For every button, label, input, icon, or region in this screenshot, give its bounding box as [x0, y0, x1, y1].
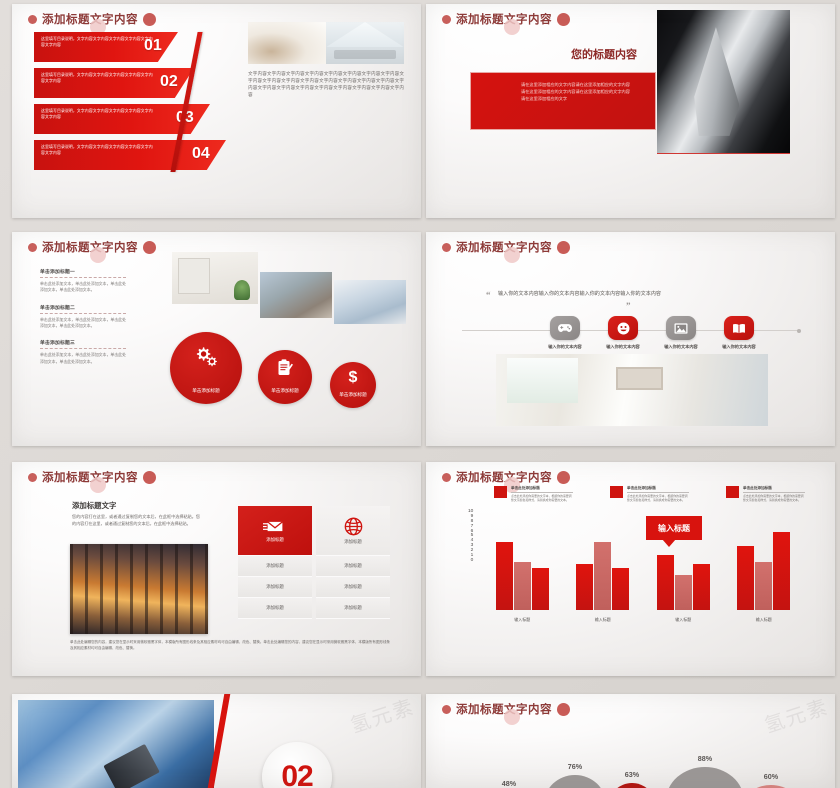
slide-thumbnail-5[interactable]: 添加标题文字内容 添加标题文字 您的内容打在这里，或者通过复制您的文本后，在此框…	[12, 462, 421, 676]
footer-note: 单击此处编辑您的内容，建议您在显示时采用微软雅黑字体，本模版所有图形线条及其相应…	[70, 640, 390, 652]
x-tick-label: 输入标题	[490, 617, 554, 623]
section-number: 02	[281, 760, 312, 788]
globe-icon	[344, 517, 363, 536]
bullet-dot-icon	[28, 473, 37, 482]
accent-circle-icon	[557, 13, 570, 26]
bar	[737, 546, 754, 610]
clipboard-check-icon	[258, 359, 312, 377]
bullet-dot-icon	[442, 243, 451, 252]
list-item[interactable]: 这里填写目录说明，文字内容文字内容文字内容文字内容文字内容文字内容 01	[34, 32, 234, 62]
svg-text:$: $	[349, 369, 358, 384]
feature-circle[interactable]: 单击添加标题	[170, 332, 242, 404]
picture-icon	[666, 316, 696, 340]
quote-text: 输入你的文本内容输入你的文本内容输入你的文本内容输入你的文本内容	[498, 290, 728, 298]
accent-circle-icon	[143, 471, 156, 484]
accent-circle-pale-icon	[504, 709, 520, 725]
smiley-icon	[608, 316, 638, 340]
legend-body: 点击此处添加你需要的文字本，根据你的需要调整文字颜色和样式，请替换成你需要的文本…	[627, 494, 689, 503]
bullet-dot-icon	[28, 243, 37, 252]
bar	[496, 542, 513, 610]
accent-circle-pale-icon	[504, 19, 520, 35]
bar	[755, 562, 772, 610]
x-tick-label: 输入标题	[732, 617, 796, 623]
list-item-number: 01	[144, 37, 162, 55]
accent-circle-icon	[557, 471, 570, 484]
data-label: 63%	[608, 770, 656, 779]
chart-legend-item: 单击此处添加标题 点击此处添加你需要的文字本，根据你的需要调整文字颜色和样式，请…	[726, 486, 805, 502]
bar	[514, 562, 531, 610]
data-label: 60%	[742, 772, 800, 781]
bar-group: 输入标题	[732, 532, 796, 610]
divider	[40, 277, 126, 278]
table-header-label: 添加标题	[344, 539, 362, 545]
content-body: 您的内容打在这里，或者通过复制您的文本后，在此框中选择粘贴。您的内容打在这里，或…	[72, 514, 200, 528]
block-heading: 单击添加标题一	[40, 268, 126, 275]
table-column: 添加标题 添加标题 添加标题 添加标题	[316, 506, 390, 619]
photo-skyscraper	[657, 10, 790, 153]
bar	[594, 542, 611, 610]
envelope-icon	[263, 519, 287, 534]
game-controller-icon	[550, 316, 580, 340]
content-heading: 添加标题文字	[72, 500, 116, 511]
legend-swatch	[494, 486, 507, 498]
slide-thumbnail-2[interactable]: 添加标题文字内容 您的标题内容 请在这里添加相应的文字内容请在这里添加相应的文字…	[426, 4, 835, 218]
timeline-node[interactable]: 输入你的文本内容	[666, 316, 696, 340]
slide-thumbnail-7[interactable]: 02 氢元素	[12, 694, 421, 788]
bar-group: 输入标题	[651, 555, 715, 610]
accent-circle-pale-icon	[90, 477, 106, 493]
x-tick-label: 输入标题	[571, 617, 635, 623]
slide-thumbnail-3[interactable]: 添加标题文字内容 单击添加标题一 单击此处添加文本，单击此处添加文本，单击此处添…	[12, 232, 421, 446]
bar-chart-plot: 输入标题输入标题输入标题输入标题	[482, 510, 804, 610]
slide-thumbnail-1[interactable]: 添加标题文字内容 这里填写目录说明，文字内容文字内容文字内容文字内容文字内容文字…	[12, 4, 421, 218]
bullet-dot-icon	[442, 705, 451, 714]
photo-lockers	[172, 252, 258, 304]
table-cell[interactable]: 添加标题	[238, 556, 312, 577]
y-tick: 0	[471, 559, 474, 564]
list-item[interactable]: 这里填写目录说明，文字内容文字内容文字内容文字内容文字内容文字内容 03	[34, 104, 234, 134]
accent-circle-icon	[557, 241, 570, 254]
template-preview-page: 添加标题文字内容 这里填写目录说明，文字内容文字内容文字内容文字内容文字内容文字…	[0, 0, 840, 788]
photo-office-desk	[248, 22, 326, 64]
numbered-list: 这里填写目录说明，文字内容文字内容文字内容文字内容文字内容文字内容 01 这里填…	[34, 32, 234, 176]
chart-legend-item: 单击此处添加标题 点击此处添加你需要的文字本，根据你的需要调整文字颜色和样式，请…	[494, 486, 573, 502]
circle-label: 单击添加标题	[271, 388, 299, 404]
data-label: 76%	[544, 762, 606, 771]
book-icon	[724, 316, 754, 340]
feature-circle[interactable]: 单击添加标题	[258, 350, 312, 404]
block-heading: 单击添加标题二	[40, 304, 126, 311]
body-paragraph: 文字内容文字内容文字内容文字内容文字内容文字内容文字内容文字内容文字内容文字内容…	[248, 70, 404, 98]
bar	[532, 568, 549, 610]
photo-handshake	[260, 272, 332, 318]
gears-icon	[170, 345, 242, 367]
y-axis-ticks: 10 9 8 7 6 5 4 3 2 1 0	[468, 510, 473, 564]
quote-open-icon: “	[486, 290, 491, 300]
legend-title: 单击此处添加标题	[511, 486, 573, 493]
list-item-text: 这里填写目录说明，文字内容文字内容文字内容文字内容文字内容文字内容	[41, 108, 153, 119]
legend-title: 单击此处添加标题	[627, 486, 689, 493]
accent-circle-pale-icon	[504, 247, 520, 263]
slide-thumbnail-4[interactable]: 添加标题文字内容 “ ” 输入你的文本内容输入你的文本内容输入你的文本内容输入你…	[426, 232, 835, 446]
quote-close-icon: ”	[626, 301, 631, 311]
divider	[40, 313, 126, 314]
circle-label: 单击添加标题	[192, 388, 220, 404]
bar	[576, 564, 593, 610]
timeline-node[interactable]: 输入你的文本内容	[550, 316, 580, 340]
slide-thumbnail-6[interactable]: 添加标题文字内容 单击此处添加标题 点击此处添加你需要的文字本，根据你的需要调整…	[426, 462, 835, 676]
timeline-node[interactable]: 输入你的文本内容	[608, 316, 638, 340]
x-tick-label: 输入标题	[651, 617, 715, 623]
chart-legend-item: 单击此处添加标题 点击此处添加你需要的文字本，根据你的需要调整文字颜色和样式，请…	[610, 486, 689, 502]
data-label: 88%	[666, 754, 744, 763]
bullet-dot-icon	[442, 473, 451, 482]
timeline-node[interactable]: 输入你的文本内容	[724, 316, 754, 340]
accent-circle-icon	[557, 703, 570, 716]
accent-circle-icon	[143, 241, 156, 254]
icon-table: 添加标题 添加标题 添加标题 添加标题 添加标题	[238, 506, 390, 619]
photo-pen-document	[18, 700, 214, 788]
feature-circle[interactable]: $ 单击添加标题	[330, 362, 376, 408]
quote-block: “ ” 输入你的文本内容输入你的文本内容输入你的文本内容输入你的文本内容	[498, 290, 728, 298]
table-column: 添加标题 添加标题 添加标题 添加标题	[238, 506, 312, 619]
table-cell[interactable]: 添加标题	[316, 577, 390, 598]
photo-pair	[248, 22, 404, 64]
bar	[773, 532, 790, 610]
bullet-dot-icon	[28, 15, 37, 24]
text-block-column: 单击添加标题一 单击此处添加文本，单击此处添加文本，单击此处添加文本，单击此处添…	[40, 268, 126, 375]
legend-swatch	[610, 486, 623, 498]
table-cell[interactable]: 添加标题	[316, 598, 390, 619]
bar-group: 输入标题	[571, 542, 635, 610]
accent-circle-icon	[143, 13, 156, 26]
node-label: 输入你的文本内容	[702, 344, 776, 350]
legend-title: 单击此处添加标题	[743, 486, 805, 493]
photo-home-office	[496, 354, 768, 426]
bar-group: 输入标题	[490, 542, 554, 610]
list-item-text: 这里填写目录说明，文字内容文字内容文字内容文字内容文字内容文字内容	[41, 36, 153, 47]
dollar-icon: $	[330, 368, 376, 384]
bar	[612, 568, 629, 610]
list-item-text: 这里填写目录说明，文字内容文字内容文字内容文字内容文字内容文字内容	[41, 144, 153, 155]
block-body: 单击此处添加文本，单击此处添加文本，单击此处添加文本，单击此处添加文本。	[40, 317, 126, 330]
divider	[40, 348, 126, 349]
list-item[interactable]: 这里填写目录说明，文字内容文字内容文字内容文字内容文字内容文字内容 02	[34, 68, 234, 98]
list-item-text: 这里填写目录说明，文字内容文字内容文字内容文字内容文字内容文字内容	[41, 72, 153, 83]
block-heading: 单击添加标题三	[40, 339, 126, 346]
table-header-cell[interactable]: 添加标题	[316, 506, 390, 556]
bullet-dot-icon	[442, 15, 451, 24]
photo-interior-room	[326, 22, 404, 64]
legend-body: 点击此处添加你需要的文字本，根据你的需要调整文字颜色和样式，请替换成你需要的文本…	[511, 494, 573, 503]
legend-body: 点击此处添加你需要的文字本，根据你的需要调整文字颜色和样式，请替换成你需要的文本…	[743, 494, 805, 503]
block-body: 单击此处添加文本，单击此处添加文本，单击此处添加文本，单击此处添加文本。	[40, 281, 126, 294]
table-header-label: 添加标题	[266, 537, 284, 543]
list-item[interactable]: 这里填写目录说明，文字内容文字内容文字内容文字内容文字内容文字内容 04	[34, 140, 234, 170]
red-text-panel: 请在这里添加相应的文字内容请在这里添加相应的文字内容请在这里添加相应的文字内容请…	[470, 72, 656, 130]
table-cell[interactable]: 添加标题	[238, 577, 312, 598]
table-header-cell[interactable]: 添加标题	[238, 506, 312, 556]
legend-swatch	[726, 486, 739, 498]
circle-label: 单击添加标题	[339, 392, 367, 408]
photo-tablet-hands	[334, 280, 406, 324]
list-item-number: 04	[192, 145, 210, 163]
list-item-number: 02	[160, 73, 178, 91]
accent-circle-pale-icon	[90, 247, 106, 263]
bar	[693, 564, 710, 610]
chart-callout: 输入标题	[646, 516, 702, 540]
slide-thumbnail-8[interactable]: 添加标题文字内容 48%76%63%88%60% 氢元素	[426, 694, 835, 788]
bar	[675, 575, 692, 610]
panel-body-text: 请在这里添加相应的文字内容请在这里添加相应的文字内容请在这里添加相应的文字内容请…	[521, 81, 631, 102]
bar	[657, 555, 674, 610]
photo-airport-sunset	[70, 544, 208, 634]
block-body: 单击此处添加文本，单击此处添加文本，单击此处添加文本，单击此处添加文本。	[40, 352, 126, 365]
data-label: 48%	[482, 779, 536, 788]
table-cell[interactable]: 添加标题	[238, 598, 312, 619]
table-cell[interactable]: 添加标题	[316, 556, 390, 577]
